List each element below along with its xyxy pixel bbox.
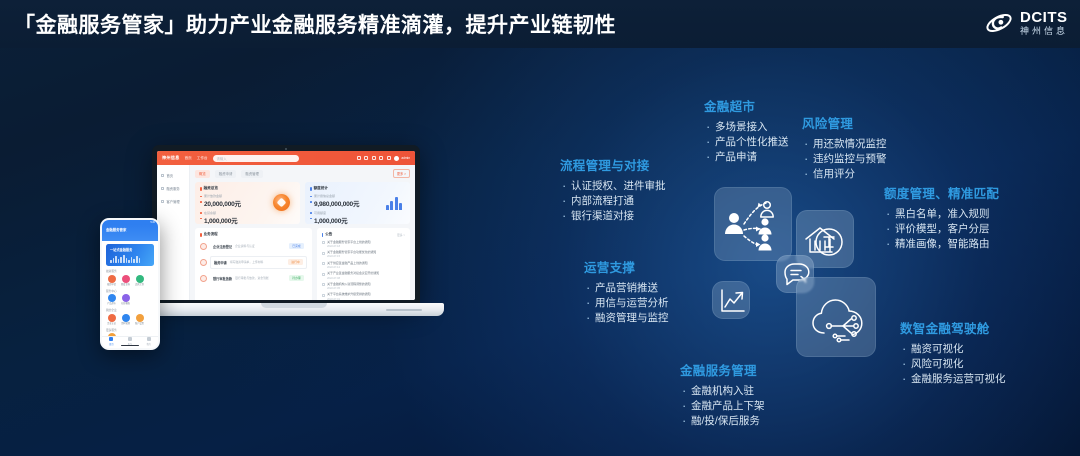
grid-icon[interactable]	[357, 156, 361, 160]
brand-name: DCITS	[1020, 10, 1068, 25]
notice-date: 2022-07-12	[327, 266, 367, 269]
avatar	[394, 156, 399, 161]
step-title: 银行审批放款	[213, 276, 232, 281]
app-icon-item[interactable]: 还款计划	[134, 275, 145, 287]
phone-mockup: 5:20 金融服务管家 一站式金融服务 融资服务	[100, 218, 160, 350]
dashboard-toolbar: admin	[357, 156, 410, 161]
step-marker-icon	[200, 243, 207, 250]
doc-icon	[322, 262, 325, 265]
group-title: 更多服务	[106, 328, 154, 332]
notice-text: 关于平台系统维护升级安排的通知	[327, 293, 370, 297]
dashboard-search-input[interactable]: 请输入	[213, 155, 299, 162]
dashboard-nav-item[interactable]: 工作台	[197, 156, 208, 161]
stat-card-header: 融资总览	[200, 186, 295, 191]
phone-group: 服务中心 产品超市 在线客服	[106, 289, 154, 306]
notice-text: 关于金融服务管家平台功能优化的通知	[327, 251, 376, 255]
step-content: 银行审批放款 银行审批与放款，资金到账 待办理	[210, 273, 307, 284]
info-list-item: 金融服务运营可视化	[900, 372, 1006, 387]
stat-row: 在贷余额 1,000,000元	[200, 211, 295, 225]
info-block-title: 额度管理、精准匹配	[884, 183, 999, 202]
info-list-item: 精准画像，智能路由	[884, 237, 999, 252]
app-icon-label: 融资申请	[106, 284, 117, 287]
info-block-list: 金融机构入驻 金融产品上下架 融/投/保后服务	[680, 384, 765, 429]
app-icon-item[interactable]: 资料管理	[120, 314, 131, 326]
app-icon-label: 额度查询	[120, 284, 131, 287]
tab-label: 我的	[146, 342, 150, 346]
status-time: 5:20	[150, 221, 155, 224]
panel-title: 业务流程	[204, 232, 218, 237]
banner-title: 一站式金融服务	[110, 247, 150, 252]
info-list-item: 内部流程打通	[560, 194, 666, 209]
financing-apply-icon	[108, 275, 116, 283]
panel-header: 公告 更多 >	[322, 232, 405, 237]
bell-icon[interactable]	[372, 156, 376, 160]
notice-date: 2022-07-18	[327, 245, 370, 248]
flow-step[interactable]: 银行审批放款 银行审批与放款，资金到账 待办理	[200, 273, 307, 284]
info-list-item: 认证授权、进件审批	[560, 179, 666, 194]
step-desc: 企业资料与认证	[235, 244, 255, 248]
search-icon[interactable]	[364, 156, 368, 160]
dashboard-topbar: 神州信息 首页 工作台 请输入	[157, 151, 415, 165]
icon-card-chart	[712, 281, 750, 319]
dashboard-tabs: 概览 融资申请 融资管理 更多 >	[195, 169, 410, 178]
sidebar-item-label: 融资服务	[167, 186, 180, 191]
status-badge: 进行中	[288, 259, 302, 265]
tab-overview[interactable]: 概览	[195, 170, 210, 178]
info-list-item: 信用评分	[802, 167, 887, 182]
customer-icon	[161, 200, 164, 203]
panel-header: 业务流程	[200, 232, 307, 237]
doc-icon	[322, 241, 325, 244]
dashboard-body: 首页 融资服务 客户管理	[157, 165, 415, 300]
doc-icon	[322, 294, 325, 297]
step-marker-icon	[200, 275, 207, 282]
status-badge: 已完成	[289, 243, 303, 249]
step-content: 融资申请 填写融资申请单，上传材料 进行中	[210, 256, 307, 269]
notice-item[interactable]: 关于供应链金融产品上线的通知 2022-07-12	[322, 262, 405, 269]
trend-chart-up-icon	[713, 282, 751, 320]
icon-grid: 产品超市 在线客服	[106, 294, 154, 306]
app-icon-item[interactable]: 在线客服	[120, 294, 131, 306]
dashboard-main: 概览 融资申请 融资管理 更多 > 融资总览	[190, 165, 415, 300]
laptop-base	[144, 303, 444, 316]
dashboard-nav-item[interactable]: 首页	[185, 156, 192, 161]
notice-date: 2022-07-05	[327, 287, 370, 290]
info-block-list: 多场景接入 产品个性化推送 产品申请	[704, 120, 789, 165]
icon-card-cloud	[796, 277, 876, 357]
info-block-edu-guanli: 额度管理、精准匹配 黑白名单，准入规则 评价模型，客户分层 精准画像，智能路由	[884, 183, 999, 252]
notice-item[interactable]: 关于产业链金融服务对接会议召开的通知 2022-07-08	[322, 272, 405, 279]
info-list-item: 用信与运营分析	[584, 296, 669, 311]
notice-text: 关于产业链金融服务对接会议召开的通知	[327, 272, 379, 276]
info-block-jinrong-fuwu: 金融服务管理 金融机构入驻 金融产品上下架 融/投/保后服务	[680, 360, 765, 429]
info-block-title: 运营支撑	[584, 257, 669, 276]
info-list-item: 违约监控与预警	[802, 152, 887, 167]
info-block-list: 认证授权、进件审批 内部流程打通 银行渠道对接	[560, 179, 666, 224]
more-link[interactable]: 更多 >	[397, 233, 405, 237]
icon-card-people	[714, 187, 792, 261]
app-icon-label: 产品超市	[106, 303, 117, 306]
service-icon	[128, 337, 132, 341]
dashboard-user-menu[interactable]: admin	[394, 156, 410, 161]
info-block-list: 用还款情况监控 违约监控与预警 信用评分	[802, 137, 887, 182]
user-name: admin	[401, 156, 410, 160]
phone-tab-bar: 首页 服务 我的	[102, 336, 158, 348]
app-icon-item[interactable]: 融资申请	[106, 275, 117, 287]
step-desc: 填写融资申请单，上传材料	[230, 260, 264, 264]
app-icon-label: 资料管理	[120, 323, 131, 326]
info-block-liucheng: 流程管理与对接 认证授权、进件审批 内部流程打通 银行渠道对接	[560, 155, 666, 224]
sidebar-item-label: 首页	[167, 173, 174, 178]
notice-item[interactable]: 关于金融服务管家平台上线的通知 2022-07-18	[322, 241, 405, 248]
enterprise-auth-icon	[108, 314, 116, 322]
slide-header: 「金融服务管家」助力产业金融服务精准滴灌，提升产业链韧性 DCITS 神州信息	[0, 0, 1080, 48]
brand-subtitle: 神州信息	[1020, 27, 1068, 36]
dashboard-panels: 业务流程 企业注册登记 企业资料与认证 已完成	[195, 228, 410, 300]
info-list-item: 风险可视化	[900, 357, 1006, 372]
app-icon-label: 企业认证	[106, 323, 117, 326]
status-badge: 待办理	[289, 275, 303, 281]
panel-title: 公告	[325, 232, 332, 237]
stat-row: 可用额度 1,000,000元	[310, 211, 405, 225]
account-settings-icon	[136, 314, 144, 322]
stat-card-title: 融资总览	[204, 186, 218, 191]
people-network-icon	[715, 188, 793, 262]
phone-group: 融资服务 融资申请 额度查询	[106, 269, 154, 286]
info-block-title: 风险管理	[802, 113, 887, 132]
laptop-lid: 神州信息 首页 工作台 请输入	[152, 145, 420, 305]
stat-value: 1,000,000元	[200, 215, 295, 225]
flow-step[interactable]: 企业注册登记 企业资料与认证 已完成	[200, 241, 307, 252]
search-placeholder: 请输入	[217, 156, 227, 161]
info-list-item: 产品营销推送	[584, 281, 669, 296]
stat-value: 1,000,000元	[310, 215, 405, 225]
laptop-mockup: 神州信息 首页 工作台 请输入	[144, 145, 444, 345]
info-block-jiashicang: 数智金融驾驶舱 融资可视化 风险可视化 金融服务运营可视化	[900, 318, 1006, 387]
icon-grid: 融资申请 额度查询 还款计划	[106, 275, 154, 287]
group-title: 服务中心	[106, 289, 154, 293]
notice-date: 2022-07-01	[327, 298, 370, 300]
home-icon	[109, 337, 113, 341]
phone-tab-home[interactable]: 首页	[109, 337, 113, 346]
info-list-item: 黑白名单，准入规则	[884, 207, 999, 222]
help-icon[interactable]	[387, 156, 391, 160]
icon-grid: 企业认证 资料管理 账户设置	[106, 314, 154, 326]
phone-screen: 5:20 金融服务管家 一站式金融服务 融资服务	[102, 220, 158, 348]
info-block-list: 产品营销推送 用信与运营分析 融资管理与监控	[584, 281, 669, 326]
banner-bars-graphic	[110, 255, 150, 263]
product-market-icon	[108, 294, 116, 302]
doc-icon	[322, 283, 325, 286]
sidebar-item-home[interactable]: 首页	[161, 173, 185, 178]
notice-item[interactable]: 关于金融服务管家平台功能优化的通知 2022-07-15	[322, 251, 405, 258]
repayment-plan-icon	[136, 275, 144, 283]
sidebar-item-label: 客户管理	[167, 199, 180, 204]
notice-panel: 公告 更多 > 关于金融服务管家平台上线的通知 2022-07-18	[317, 228, 410, 300]
cloud-circuit-icon	[797, 278, 877, 358]
group-title: 我的企业	[106, 308, 154, 312]
financing-icon	[161, 187, 164, 190]
notice-date: 2022-07-08	[327, 277, 379, 280]
notice-date: 2022-07-15	[327, 255, 376, 258]
flow-panel: 业务流程 企业注册登记 企业资料与认证 已完成	[195, 228, 312, 300]
center-icon-card-cluster	[700, 185, 890, 370]
brand-logo: DCITS 神州信息	[984, 8, 1068, 38]
slide-canvas: 「金融服务管家」助力产业金融服务精准滴灌，提升产业链韧性 DCITS 神州信息 …	[0, 0, 1080, 456]
accent-bar	[310, 187, 312, 191]
info-list-item: 产品个性化推送	[704, 135, 789, 150]
phone-app-title: 金融服务管家	[106, 227, 154, 232]
phone-group: 我的企业 企业认证 资料管理	[106, 308, 154, 325]
bar-chart-graphic	[386, 194, 403, 210]
app-icon-label: 还款计划	[134, 284, 145, 287]
notice-item[interactable]: 关于金融机构入驻流程调整的通知 2022-07-05	[322, 283, 405, 290]
dashboard-stat-cards: 融资总览 累计放款金额 20,000,000元 在贷余额 1,000,000元	[195, 182, 410, 224]
document-manage-icon	[122, 314, 130, 322]
sidebar-item-customers[interactable]: 客户管理	[161, 199, 185, 204]
step-content: 企业注册登记 企业资料与认证 已完成	[210, 241, 307, 252]
info-block-list: 融资可视化 风险可视化 金融服务运营可视化	[900, 342, 1006, 387]
info-block-yunying: 运营支撑 产品营销推送 用信与运营分析 融资管理与监控	[584, 257, 669, 326]
page-title: 「金融服务管家」助力产业金融服务精准滴灌，提升产业链韧性	[14, 9, 616, 39]
flow-step[interactable]: 融资申请 填写融资申请单，上传材料 进行中	[200, 256, 307, 269]
info-block-fengxian: 风险管理 用还款情况监控 违约监控与预警 信用评分	[802, 113, 887, 182]
app-icon-item[interactable]: 账户设置	[134, 314, 145, 326]
dashboard-sidebar: 首页 融资服务 客户管理	[157, 165, 190, 300]
laptop-foot	[386, 309, 422, 311]
phone-app-header: 金融服务管家	[102, 225, 158, 241]
info-list-item: 金融产品上下架	[680, 399, 765, 414]
app-icon-item[interactable]: 额度查询	[120, 275, 131, 287]
info-block-title: 流程管理与对接	[560, 155, 666, 174]
stat-card-header: 额度统计	[310, 186, 405, 191]
info-block-title: 数智金融驾驶舱	[900, 318, 1006, 337]
tab-label: 首页	[109, 342, 113, 346]
stat-card-credit: 额度统计 累计授信总金额 9,980,000,000元 可用额度 1,000,0…	[305, 182, 410, 224]
online-service-icon	[122, 294, 130, 302]
step-title: 融资申请	[214, 260, 227, 265]
info-list-item: 产品申请	[704, 150, 789, 165]
notice-text: 关于金融服务管家平台上线的通知	[327, 241, 370, 245]
accent-bar	[322, 233, 324, 237]
app-icon-item[interactable]: 企业认证	[106, 314, 117, 326]
laptop-camera-icon	[285, 148, 287, 150]
orange-orb-graphic	[273, 194, 290, 211]
info-list-item: 用还款情况监控	[802, 137, 887, 152]
notice-text: 关于金融机构入驻流程调整的通知	[327, 283, 370, 287]
info-list-item: 融资可视化	[900, 342, 1006, 357]
accent-bar	[200, 187, 202, 191]
info-list-item: 银行渠道对接	[560, 209, 666, 224]
swirl-logo-icon	[984, 8, 1014, 38]
info-block-list: 黑白名单，准入规则 评价模型，客户分层 精准画像，智能路由	[884, 207, 999, 252]
step-desc: 银行审批与放款，资金到账	[235, 276, 269, 280]
laptop-screen: 神州信息 首页 工作台 请输入	[157, 151, 415, 300]
user-icon	[147, 337, 151, 341]
accent-bar	[200, 233, 202, 237]
tab-financing-apply[interactable]: 融资申请	[215, 170, 237, 178]
notice-item[interactable]: 关于平台系统维护升级安排的通知 2022-07-01	[322, 293, 405, 300]
doc-icon	[322, 273, 325, 276]
phone-tab-mine[interactable]: 我的	[146, 337, 150, 346]
stat-card-financing: 融资总览 累计放款金额 20,000,000元 在贷余额 1,000,000元	[195, 182, 300, 224]
info-list-item: 多场景接入	[704, 120, 789, 135]
credit-query-icon	[122, 275, 130, 283]
home-icon	[161, 174, 164, 177]
info-list-item: 融/投/保后服务	[680, 414, 765, 429]
info-list-item: 评价模型，客户分层	[884, 222, 999, 237]
more-button[interactable]: 更多 >	[393, 169, 410, 178]
info-list-item: 金融机构入驻	[680, 384, 765, 399]
phone-banner[interactable]: 一站式金融服务	[106, 244, 154, 266]
laptop-trackpad-notch	[261, 303, 327, 308]
stat-card-title: 额度统计	[314, 186, 328, 191]
app-icon-item[interactable]: 产品超市	[106, 294, 117, 306]
device-mockups: 神州信息 首页 工作台 请输入	[100, 140, 460, 370]
info-list-item: 融资管理与监控	[584, 311, 669, 326]
info-block-title: 金融超市	[704, 96, 789, 115]
message-icon[interactable]	[379, 156, 383, 160]
step-marker-icon	[200, 259, 207, 266]
group-title: 融资服务	[106, 269, 154, 273]
sidebar-item-financing[interactable]: 融资服务	[161, 186, 185, 191]
notice-text: 关于供应链金融产品上线的通知	[327, 262, 367, 266]
dashboard-logo: 神州信息	[162, 155, 180, 161]
phone-home-indicator	[121, 345, 139, 346]
info-block-jinrong-chaoshi: 金融超市 多场景接入 产品个性化推送 产品申请	[704, 96, 789, 165]
doc-icon	[322, 252, 325, 255]
app-icon-label: 在线客服	[120, 303, 131, 306]
app-icon-label: 账户设置	[134, 323, 145, 326]
tab-financing-manage[interactable]: 融资管理	[241, 170, 263, 178]
step-title: 企业注册登记	[213, 244, 232, 249]
